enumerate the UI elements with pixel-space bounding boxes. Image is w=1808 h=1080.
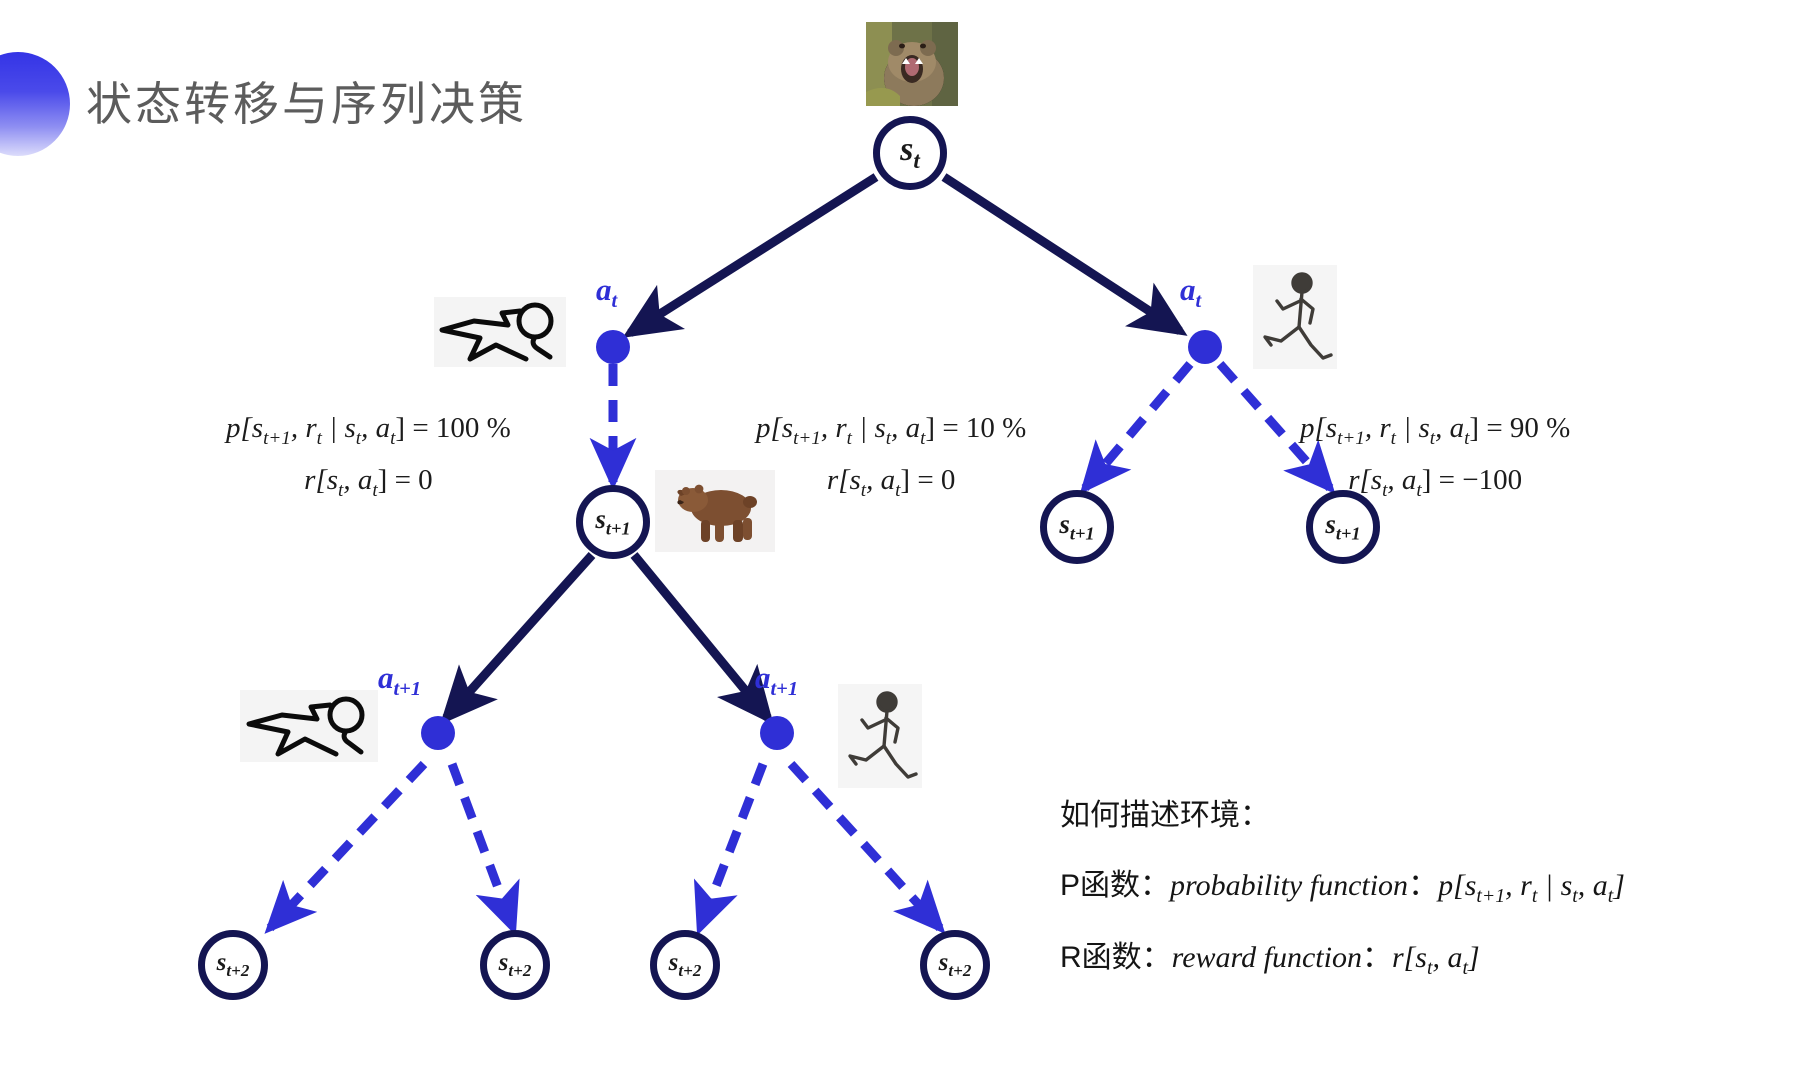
state-node-t2-b-label: st+2 xyxy=(499,949,532,981)
formula-left-reward: r[st, at] = 0 xyxy=(226,464,511,502)
state-node-root-label: st xyxy=(900,131,920,175)
formula-right-branch: p[st+1, rt | st, at] = 90 % r[st, at] = … xyxy=(1300,412,1570,502)
edge-state-t1-to-action-t1-left xyxy=(446,555,592,718)
state-node-t1-mid-label: st+1 xyxy=(1059,509,1094,544)
legend-p-en: probability function xyxy=(1170,869,1408,902)
running-figure-icon xyxy=(1253,265,1337,369)
formula-middle-reward: r[st, at] = 0 xyxy=(756,464,1026,502)
lying-figure-icon xyxy=(240,690,378,762)
state-node-t1-right[interactable]: st+1 xyxy=(1306,490,1380,564)
formula-left-probability: p[st+1, rt | st, at] = 100 % xyxy=(226,412,511,450)
state-node-t1-left-label: st+1 xyxy=(595,504,630,539)
slide-canvas: 状态转移与序列决策 xyxy=(0,0,1808,1080)
legend-r-math: r[st, at] xyxy=(1392,941,1480,974)
edge-state-t1-to-action-t1-right xyxy=(634,555,768,718)
lying-figure-icon xyxy=(434,297,566,367)
state-node-t1-right-label: st+1 xyxy=(1325,509,1360,544)
formula-middle-probability: p[st+1, rt | st, at] = 10 % xyxy=(756,412,1026,450)
state-node-t1-left[interactable]: st+1 xyxy=(576,485,650,559)
legend-r-en: reward function xyxy=(1172,941,1362,974)
edge-action-right-to-state-t1-mid xyxy=(1085,364,1190,488)
legend-row-p-function: P函数：probability function：p[st+1, rt | st… xyxy=(1060,860,1625,908)
action-node-t-left[interactable] xyxy=(596,330,630,364)
edge-root-to-action-right xyxy=(944,177,1180,331)
legend-r-colon: ： xyxy=(1362,941,1392,974)
legend-p-colon: ： xyxy=(1408,869,1438,902)
legend-heading: 如何描述环境： xyxy=(1060,790,1625,834)
edge-action-t1-right-to-state-t2-d xyxy=(791,764,940,928)
edge-action-t1-left-to-state-t2-a xyxy=(270,764,424,928)
state-node-t2-a-label: st+2 xyxy=(217,949,250,981)
state-node-t2-c-label: st+2 xyxy=(669,949,702,981)
state-node-root[interactable]: st xyxy=(873,116,947,190)
state-node-t1-mid[interactable]: st+1 xyxy=(1040,490,1114,564)
edge-action-t1-right-to-state-t2-c xyxy=(700,764,763,928)
running-figure-icon xyxy=(838,684,922,788)
state-node-t2-a[interactable]: st+2 xyxy=(198,930,268,1000)
legend-block: 如何描述环境： P函数：probability function：p[st+1,… xyxy=(1060,790,1625,1004)
action-node-t-right[interactable] xyxy=(1188,330,1222,364)
state-node-t2-b[interactable]: st+2 xyxy=(480,930,550,1000)
legend-p-math: p[st+1, rt | st, at] xyxy=(1438,869,1625,902)
legend-row-r-function: R函数：reward function：r[st, at] xyxy=(1060,932,1625,980)
legend-p-cn: P函数： xyxy=(1060,869,1170,902)
formula-right-probability: p[st+1, rt | st, at] = 90 % xyxy=(1300,412,1570,450)
edge-action-t1-left-to-state-t2-b xyxy=(452,764,513,928)
action-label-t-right: at xyxy=(1180,272,1201,313)
legend-r-cn: R函数： xyxy=(1060,941,1172,974)
action-label-t1-right: at+1 xyxy=(755,660,798,701)
formula-left-branch: p[st+1, rt | st, at] = 100 % r[st, at] =… xyxy=(226,412,511,502)
roaring-bear-photo xyxy=(866,22,958,106)
action-node-t1-left[interactable] xyxy=(421,716,455,750)
state-node-t2-d[interactable]: st+2 xyxy=(920,930,990,1000)
state-node-t2-d-label: st+2 xyxy=(939,949,972,981)
formula-middle-branch: p[st+1, rt | st, at] = 10 % r[st, at] = … xyxy=(756,412,1026,502)
state-node-t2-c[interactable]: st+2 xyxy=(650,930,720,1000)
action-node-t1-right[interactable] xyxy=(760,716,794,750)
action-label-t-left: at xyxy=(596,272,617,313)
action-label-t1-left: at+1 xyxy=(378,660,421,701)
edge-root-to-action-left xyxy=(630,177,876,333)
